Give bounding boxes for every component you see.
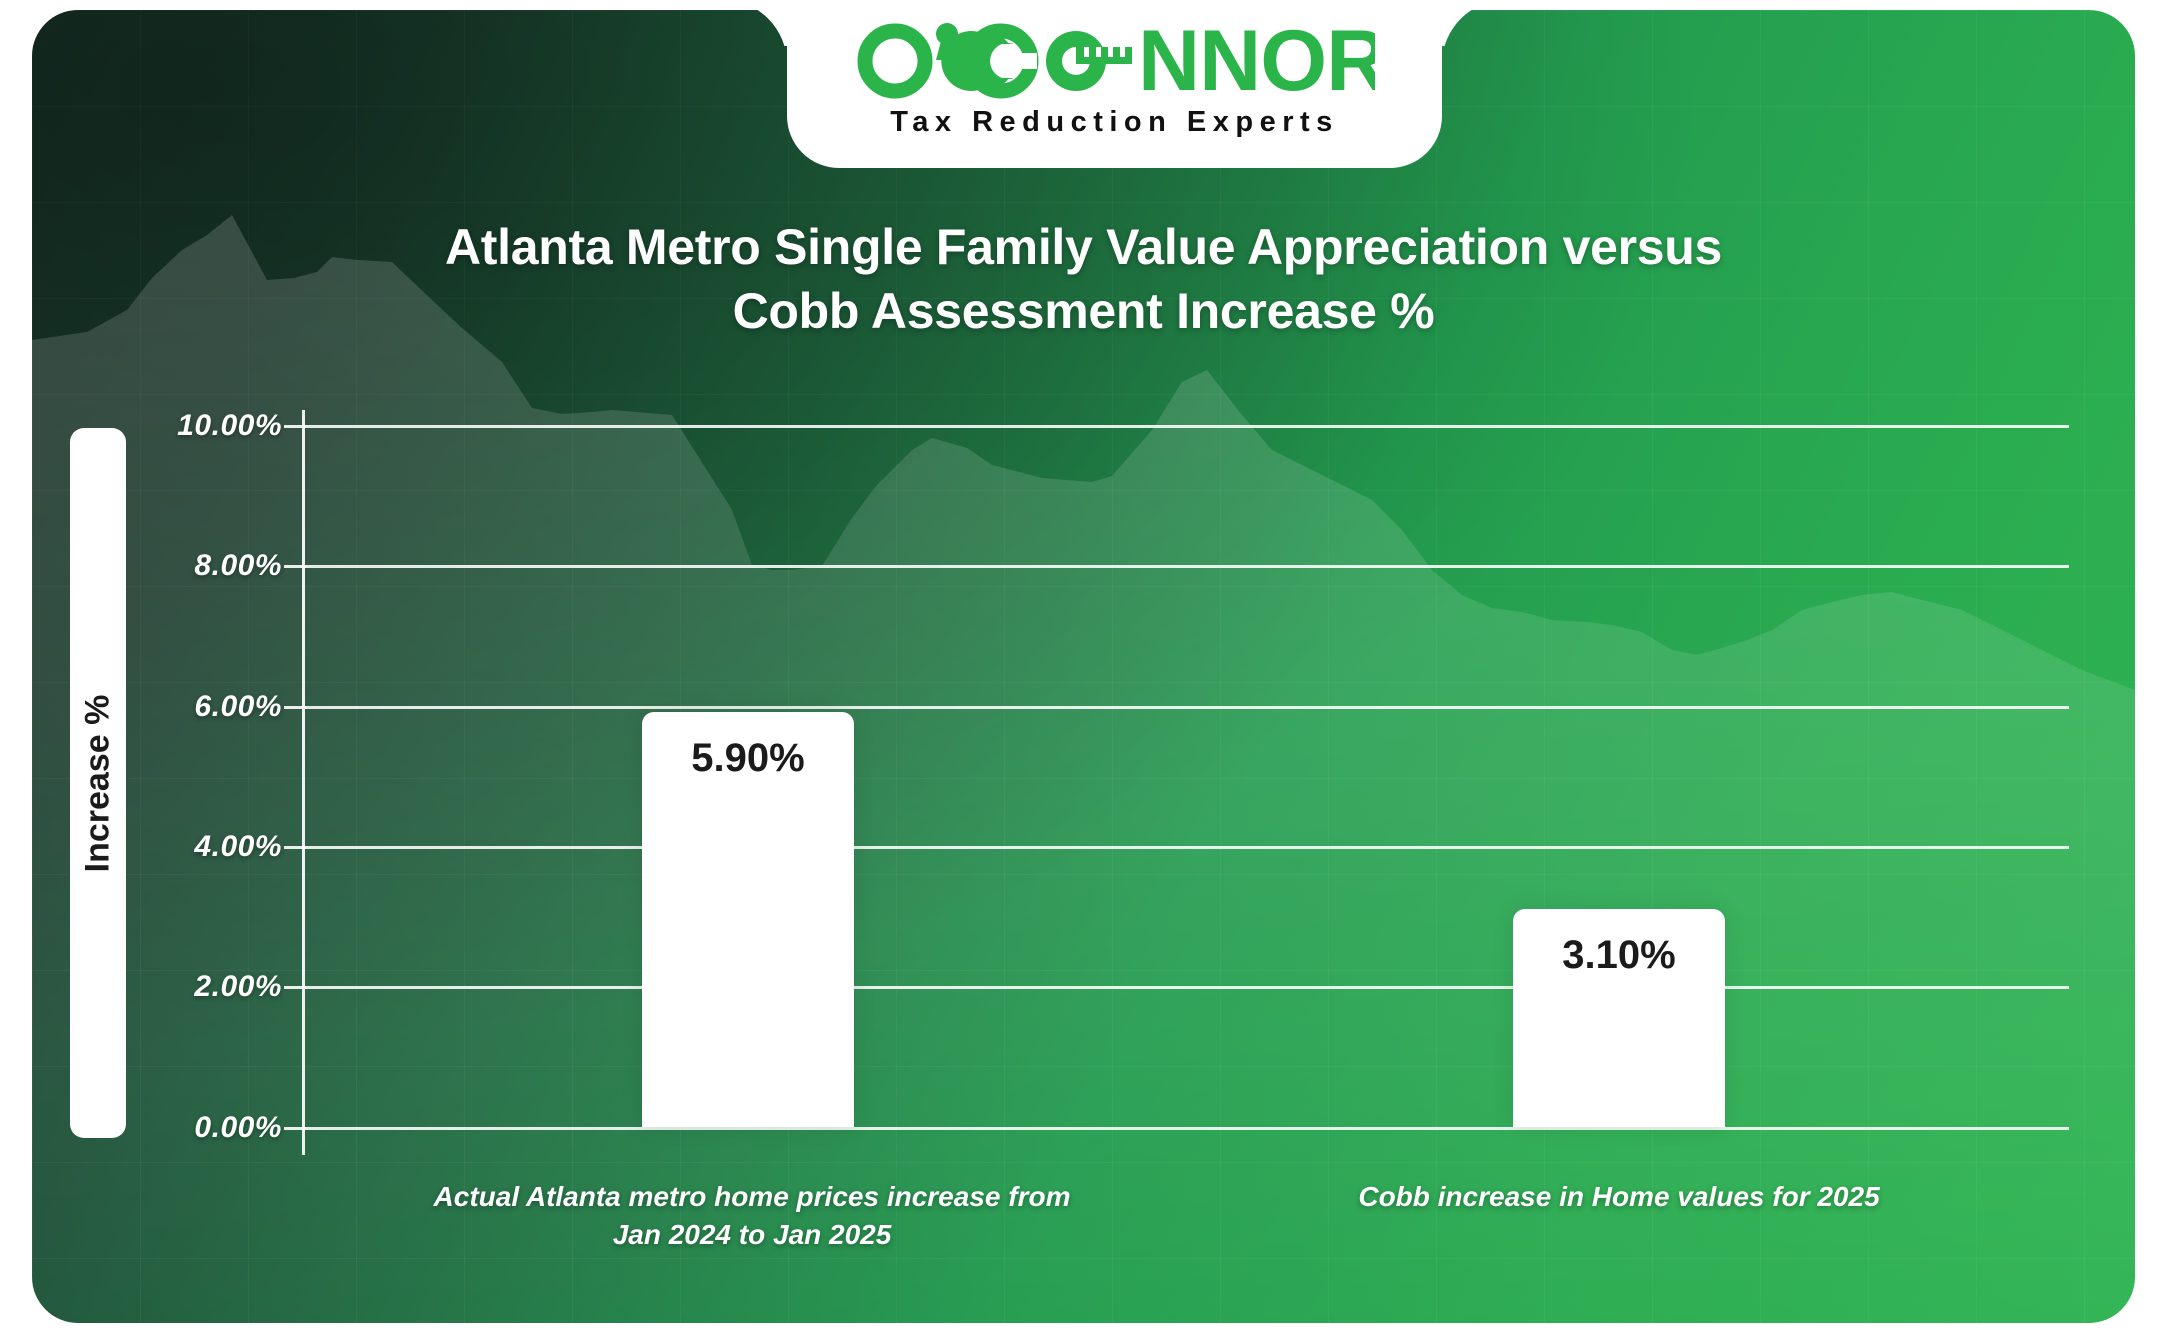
ytick-label-2: 2.00% xyxy=(112,970,282,1004)
svg-text:NNOR: NNOR xyxy=(1138,14,1375,100)
infographic-root: Atlanta Metro Single Family Value Apprec… xyxy=(0,0,2167,1333)
gridline-0 xyxy=(304,1127,2069,1130)
category-label-2-line-1: Cobb increase in Home values for 2025 xyxy=(1239,1178,1999,1216)
ytick-label-0: 0.00% xyxy=(112,1111,282,1145)
bar-value-label-2: 3.10% xyxy=(1513,933,1725,978)
chart-card: Atlanta Metro Single Family Value Apprec… xyxy=(32,10,2135,1323)
gridline-8 xyxy=(304,565,2069,568)
ytick-label-8: 8.00% xyxy=(112,549,282,583)
ytick-mark-2 xyxy=(284,986,306,989)
ruler-key-icon xyxy=(1046,31,1132,91)
ytick-mark-8 xyxy=(284,565,306,568)
chart-title-line-1: Atlanta Metro Single Family Value Apprec… xyxy=(262,215,1905,279)
ytick-mark-4 xyxy=(284,846,306,849)
brand-logo[interactable]: NNOR Tax Reduction Experts xyxy=(787,14,1442,139)
brand-logo-notch: NNOR Tax Reduction Experts xyxy=(787,10,1442,168)
gridline-2 xyxy=(304,986,2069,989)
category-label-1-line-2: Jan 2024 to Jan 2025 xyxy=(372,1216,1132,1254)
y-axis-title: Increase % xyxy=(79,694,118,872)
ytick-mark-0 xyxy=(284,1127,306,1130)
category-label-1-line-1: Actual Atlanta metro home prices increas… xyxy=(372,1178,1132,1216)
chart-title-line-2: Cobb Assessment Increase % xyxy=(262,279,1905,343)
y-axis-line xyxy=(302,410,305,1155)
y-axis-title-capsule: Increase % xyxy=(70,428,126,1138)
bar-actual-atlanta-metro[interactable]: 5.90% xyxy=(642,712,854,1127)
ytick-label-4: 4.00% xyxy=(112,830,282,864)
ytick-mark-6 xyxy=(284,706,306,709)
page-title: Atlanta Metro Single Family Value Apprec… xyxy=(32,215,2135,343)
brand-tagline: Tax Reduction Experts xyxy=(890,106,1339,139)
category-label-2: Cobb increase in Home values for 2025 xyxy=(1239,1178,1999,1216)
category-label-1: Actual Atlanta metro home prices increas… xyxy=(372,1178,1132,1254)
ytick-label-6: 6.00% xyxy=(112,690,282,724)
plot-area: 0.00% 2.00% 4.00% 6.00% 8.00% 10.00% 5.9… xyxy=(32,10,2135,1323)
gridline-6 xyxy=(304,706,2069,709)
gridline-10 xyxy=(304,425,2069,428)
ytick-label-10: 10.00% xyxy=(112,409,282,443)
ytick-mark-10 xyxy=(284,425,306,428)
oconnor-logo-icon: NNOR xyxy=(855,14,1375,100)
gridline-4 xyxy=(304,846,2069,849)
bar-cobb-increase[interactable]: 3.10% xyxy=(1513,909,1725,1127)
bar-value-label-1: 5.90% xyxy=(642,736,854,781)
